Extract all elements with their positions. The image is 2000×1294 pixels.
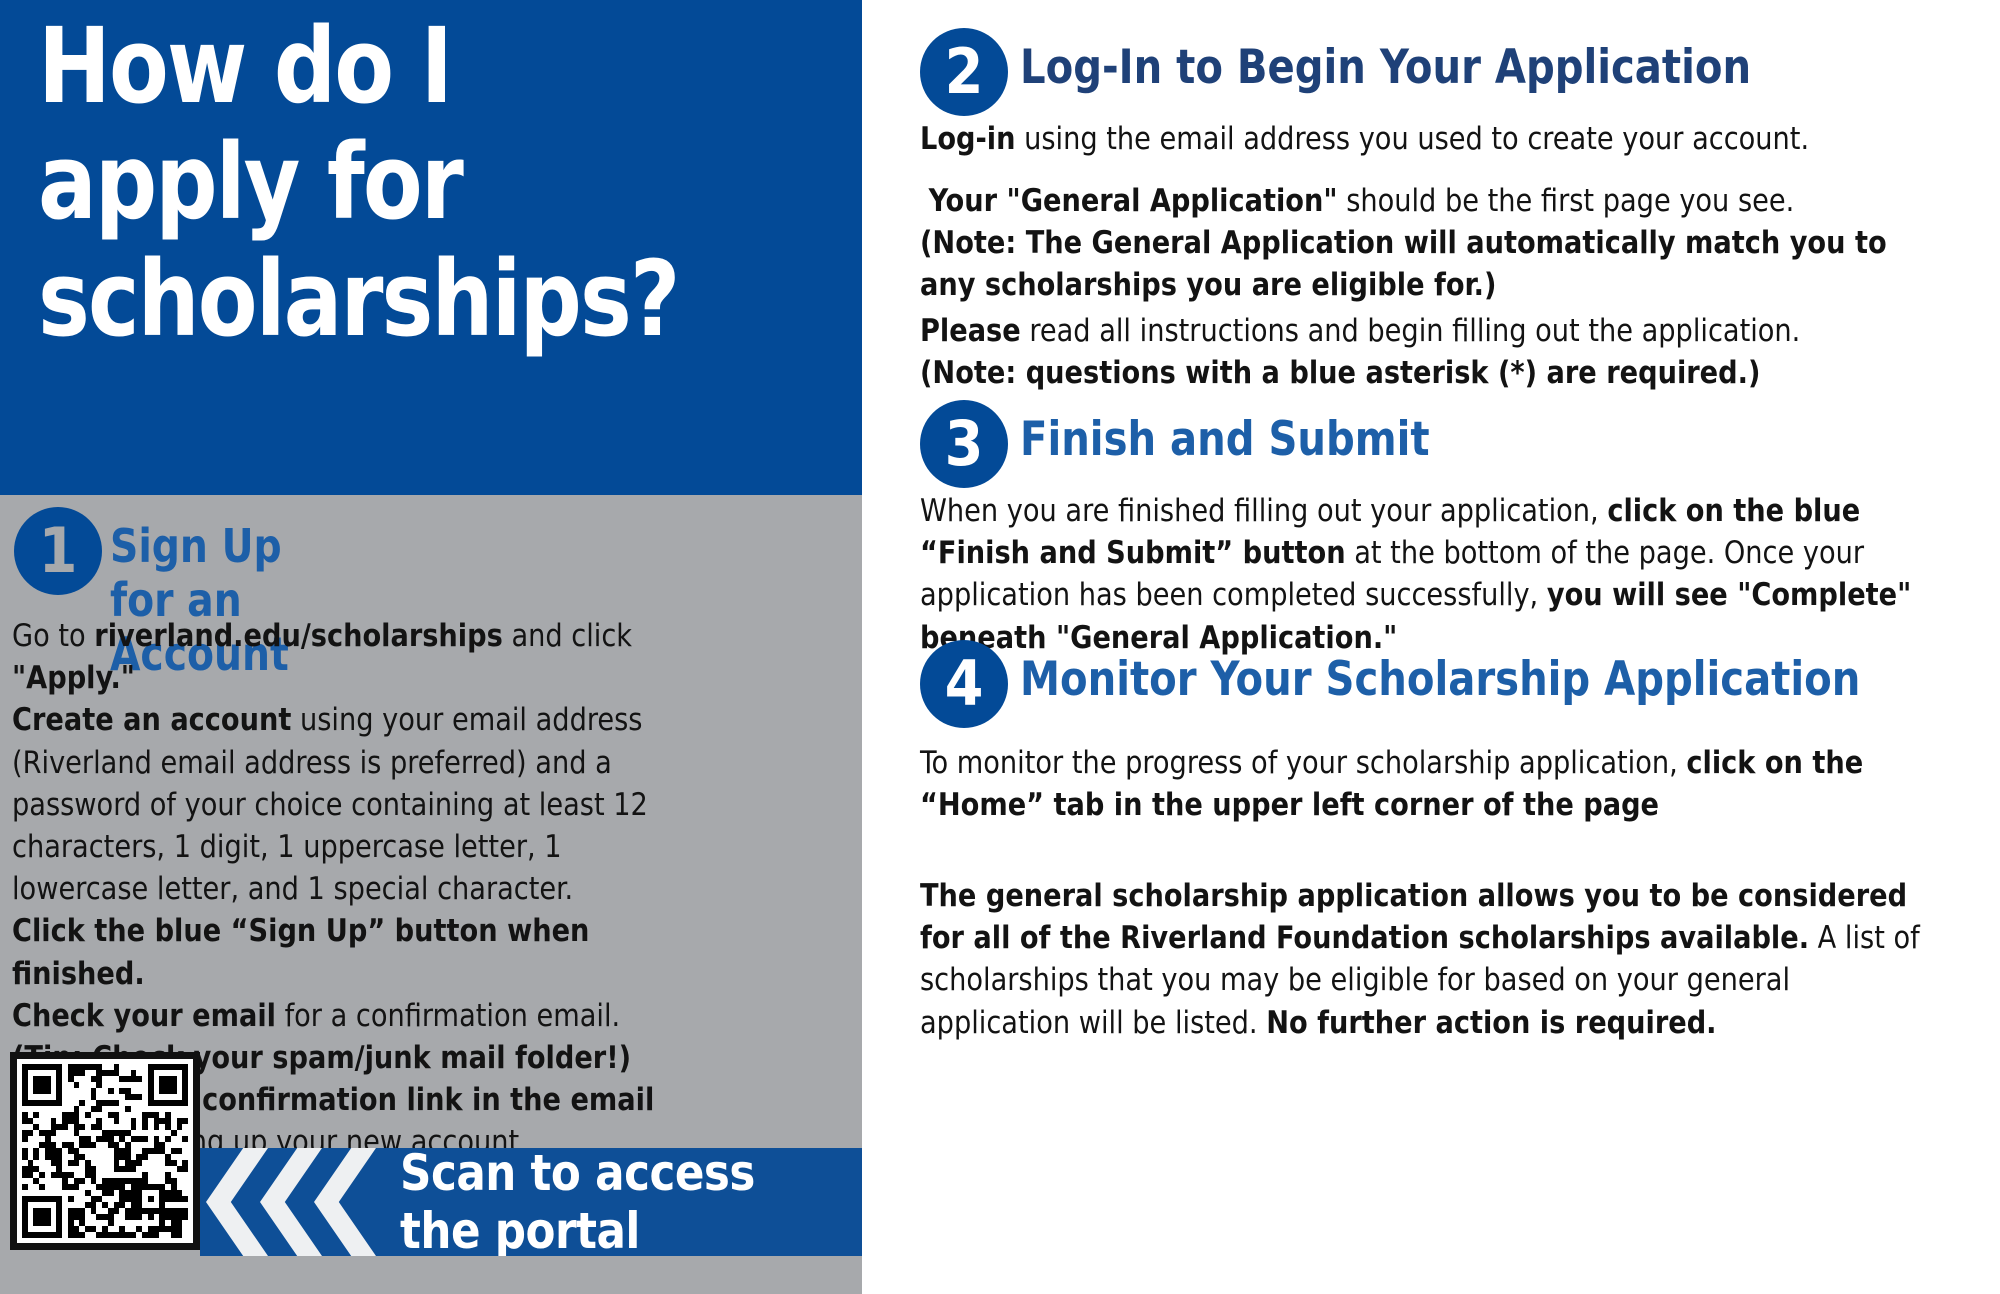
step-2-paragraph-2: Your "General Application" should be the… (920, 180, 1928, 307)
step-2-number-badge: 2 (920, 28, 1008, 116)
step-2-title: Log-In to Begin Your Application (1020, 40, 1751, 95)
step-3-title: Finish and Submit (1020, 412, 1430, 467)
step-4-paragraph-1: To monitor the progress of your scholars… (920, 742, 1928, 826)
step-1-number-badge: 1 (14, 507, 102, 595)
qr-code-matrix (22, 1064, 188, 1238)
chevron-left-icon (314, 1148, 376, 1256)
step-3-header: 3 Finish and Submit (920, 400, 1980, 492)
left-column: How do I apply for scholarships? 1 Sign … (0, 0, 862, 1294)
step-3-paragraph-1: When you are finished filling out your a… (920, 490, 1928, 659)
step-3-number-badge: 3 (920, 400, 1008, 488)
qr-code[interactable] (10, 1052, 200, 1250)
step-4-title: Monitor Your Scholarship Application (1020, 652, 1860, 707)
step-4-header: 4 Monitor Your Scholarship Application (920, 640, 1980, 732)
scan-to-access-banner[interactable]: Scan to access the portal (200, 1148, 862, 1256)
step-2-header: 2 Log-In to Begin Your Application (920, 28, 1980, 120)
step-2-paragraph-1: Log-in using the email address you used … (920, 118, 1928, 160)
step-2-paragraph-3: Please read all instructions and begin f… (920, 310, 1928, 394)
page-title: How do I apply for scholarships? (38, 8, 782, 357)
chevron-left-icon (206, 1148, 268, 1256)
infographic-page: How do I apply for scholarships? 1 Sign … (0, 0, 2000, 1294)
step-4-number-badge: 4 (920, 640, 1008, 728)
right-column: 2 Log-In to Begin Your Application Log-i… (880, 0, 2000, 1294)
chevron-left-icon (260, 1148, 322, 1256)
step-4-paragraph-2: The general scholarship application allo… (920, 875, 1928, 1044)
hero-panel: How do I apply for scholarships? (0, 0, 862, 495)
scan-banner-label: Scan to access the portal (400, 1148, 848, 1256)
